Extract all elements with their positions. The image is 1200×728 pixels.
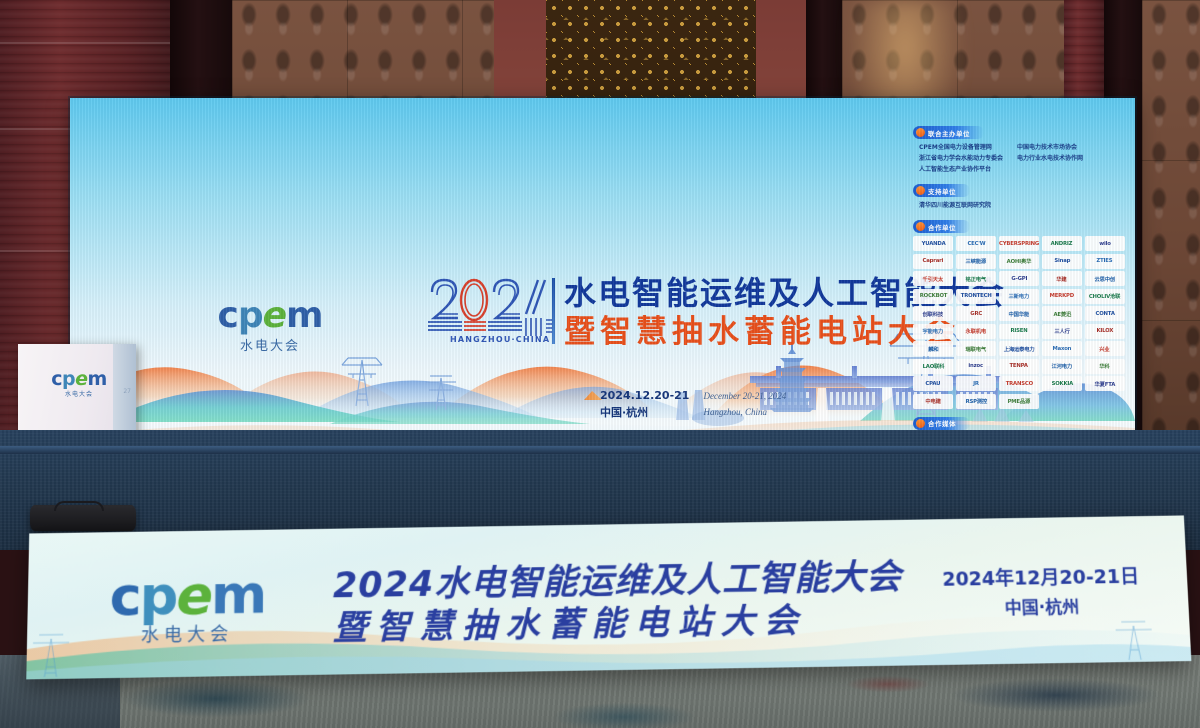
sponsor-logo-label: Caprari: [923, 259, 944, 265]
sponsor-logo-label: TENPA: [1010, 364, 1028, 370]
sponsor-logo-cell: CHOLIV沧联: [1085, 289, 1125, 304]
sponsor-logo-label: 瑞联电气: [966, 345, 986, 353]
organizer-col-1: CPEM全国电力设备管理网 浙江省电力学会水能动力专委会 人工智能生态产业协作平…: [919, 142, 1003, 175]
sponsor-logo-label: G-GPI: [1011, 276, 1027, 282]
sponsor-logo-cell: inzoc: [956, 359, 996, 374]
podium-number: 27: [123, 388, 131, 395]
sponsor-logo-cell: PME品源: [999, 394, 1039, 409]
title-divider: [552, 278, 555, 344]
sponsor-logo-cell: 华建: [1042, 271, 1082, 286]
banner-title-line2: 暨智慧抽水蓄能电站大会: [333, 598, 904, 651]
sponsor-logo-label: AE菱迅: [1053, 310, 1071, 318]
sponsor-logo-label: 千引天太: [923, 275, 943, 283]
sponsor-logo-label: inzoc: [969, 364, 984, 370]
section-header-organizers: 联合主办单位: [913, 126, 984, 139]
sponsor-logo-cell: JR: [956, 376, 996, 391]
sponsor-logo-cell: 华科: [1085, 359, 1125, 374]
sponsor-logo-cell: GRC: [956, 306, 996, 321]
supporter-item: 清华四川能源互联网研究院: [919, 200, 1125, 211]
sponsor-logo-label: 创联科技: [923, 310, 943, 318]
sponsor-logo-label: RSP测控: [965, 398, 986, 406]
organizer-item: 中国电力技术市场协会: [1017, 142, 1083, 153]
sponsor-logo-label: Maxon: [1052, 346, 1071, 352]
sponsor-logo-label: CEC'W: [967, 241, 985, 247]
screen-date-en: December 20-21, 2024: [703, 388, 786, 404]
screen-cpem-logo: cpem 水电大会: [210, 298, 330, 354]
front-stage-banner: cpem 水电大会 2024水电智能运维及人工智能大会 暨智慧抽水蓄能电站大会 …: [26, 515, 1191, 679]
sponsor-logo-cell: SOKKIA: [1042, 376, 1082, 391]
sponsor-logo-label: 华科: [1100, 363, 1110, 371]
section-label-supporters: 支持单位: [928, 186, 956, 196]
sponsor-logo-cell: TRANSCO: [999, 376, 1039, 391]
sponsor-logo-label: CONTA: [1095, 311, 1114, 317]
bullet-icon: [916, 128, 925, 137]
banner-date-line2: 中国·杭州: [943, 592, 1141, 620]
sponsor-logo-label: Sinap: [1054, 259, 1070, 265]
organizer-item: 人工智能生态产业协作平台: [919, 164, 1003, 175]
cpem-wordmark: cpem: [210, 298, 330, 334]
sponsor-logo-cell: G-GPI: [999, 271, 1039, 286]
sponsor-logo-cell: 上海运泰电力: [999, 341, 1039, 356]
sponsor-logo-label: ROCKBOT: [919, 294, 946, 300]
sponsor-logo-cell: AOHI奥华: [999, 254, 1039, 269]
sponsor-logo-cell: 瑞联电气: [956, 341, 996, 356]
organizer-item: CPEM全国电力设备管理网: [919, 142, 1003, 153]
sponsor-logo-cell: 中国华能: [999, 306, 1039, 321]
sponsor-logo-grid: YUANDACEC'WCYBERSPRINGANDRIZwiloCaprari三…: [913, 236, 1125, 409]
sponsor-logo-cell: wilo: [1085, 236, 1125, 251]
sponsor-logo-cell: 中电建: [913, 394, 953, 409]
sponsor-logo-cell: 千引天太: [913, 271, 953, 286]
sponsor-logo-label: 中电建: [925, 398, 940, 406]
sponsor-logo-cell: 麟和: [913, 341, 953, 356]
sponsor-logo-cell: 三峡能源: [956, 254, 996, 269]
year-emblem-2024: HANGZHOU·CHINA: [426, 274, 558, 346]
sponsor-logo-cell: 云思中创: [1085, 271, 1125, 286]
banner-title-block: 2024水电智能运维及人工智能大会 暨智慧抽水蓄能电站大会: [333, 558, 904, 651]
sponsor-logo-label: TRONTECH: [961, 294, 992, 300]
section-header-supporters: 支持单位: [913, 184, 970, 197]
podium-logo: cpem 水电大会: [46, 370, 112, 398]
sponsor-logo-cell: Caprari: [913, 254, 953, 269]
sponsor-logo-label: 云思中创: [1095, 275, 1115, 283]
sponsor-logo-label: 铭正电气: [966, 275, 986, 283]
sponsor-logo-label: TRANSCO: [1005, 381, 1032, 387]
sponsor-logo-cell: CYBERSPRING: [999, 236, 1039, 251]
sponsor-logo-cell: 华夏FTA: [1085, 376, 1125, 391]
sponsor-logo-cell: LAO联科: [913, 359, 953, 374]
podium-subtitle: 水电大会: [46, 389, 112, 398]
sponsor-logo-label: KILOX: [1096, 329, 1113, 335]
section-label-organizers: 联合主办单位: [928, 128, 970, 138]
section-label-media: 合作媒体: [928, 418, 956, 428]
sponsor-logo-cell: 宇能电力: [913, 324, 953, 339]
sponsor-logo-cell: 江河电力: [1042, 359, 1082, 374]
sponsor-logo-cell: CPAU: [913, 376, 953, 391]
sponsor-logo-label: 华夏FTA: [1094, 380, 1115, 388]
banner-date-line1: 2024年12月20-21日: [942, 562, 1140, 592]
sponsor-logo-cell: 兴业: [1085, 341, 1125, 356]
sponsor-logo-label: CHOLIV沧联: [1089, 293, 1120, 301]
sponsor-logo-label: ANDRIZ: [1051, 241, 1073, 247]
sponsor-logo-cell: YUANDA: [913, 236, 953, 251]
banner-date-block: 2024年12月20-21日 中国·杭州: [942, 562, 1141, 620]
organizer-item: 电力行业水电技术协作网: [1017, 153, 1083, 164]
sponsor-logo-cell: 三人行: [1042, 324, 1082, 339]
bullet-icon: [916, 186, 925, 195]
sponsor-logo-cell: 创联科技: [913, 306, 953, 321]
sponsor-logo-label: 中国华能: [1009, 310, 1029, 318]
sponsor-logo-cell: CEC'W: [956, 236, 996, 251]
sponsor-logo-label: 华建: [1057, 275, 1067, 283]
sponsor-logo-label: 上海运泰电力: [1004, 345, 1035, 353]
sponsor-logo-label: 江河电力: [1052, 363, 1072, 371]
section-label-partner-companies: 合作单位: [928, 222, 956, 232]
cpem-subtitle: 水电大会: [210, 335, 330, 354]
screen-place-en: Hangzhou, China: [703, 404, 786, 420]
sponsor-logo-label: MERKPD: [1050, 294, 1074, 300]
sponsor-logo-label: 宇能电力: [923, 328, 943, 336]
sponsor-logo-cell: AE菱迅: [1042, 306, 1082, 321]
conference-room-scene: cpem 水电大会: [0, 0, 1200, 728]
svg-text:HANGZHOU·CHINA: HANGZHOU·CHINA: [450, 335, 550, 344]
screen-date-cn: 2024.12.20-21: [600, 388, 689, 405]
banner-wordmark: cpem: [100, 567, 276, 624]
sponsor-logo-cell: RSP测控: [956, 394, 996, 409]
sponsor-logo-label: CPAU: [926, 381, 941, 387]
supporter-list: 清华四川能源互联网研究院: [913, 200, 1125, 211]
sponsor-logo-label: RISEN: [1010, 329, 1027, 335]
organizer-lists: CPEM全国电力设备管理网 浙江省电力学会水能动力专委会 人工智能生态产业协作平…: [913, 142, 1125, 175]
screen-place-cn: 中国·杭州: [600, 405, 689, 422]
section-header-media: 合作媒体: [913, 417, 970, 430]
section-header-partners-companies: 合作单位: [913, 220, 970, 233]
sponsor-logo-label: 麟和: [928, 345, 938, 353]
sponsor-logo-cell: 铭正电气: [956, 271, 996, 286]
bullet-icon: [916, 419, 925, 428]
sponsor-logo-label: AOHI奥华: [1007, 258, 1032, 266]
sponsor-logo-cell: KILOX: [1085, 324, 1125, 339]
sponsor-logo-label: YUANDA: [921, 241, 945, 247]
sponsor-logo-label: PME品源: [1008, 398, 1031, 406]
screen-date-block: 2024.12.20-21 中国·杭州 December 20-21, 2024…: [600, 388, 786, 421]
sponsor-logo-cell: ROCKBOT: [913, 289, 953, 304]
podium-wordmark: cpem: [46, 370, 112, 389]
sponsor-logo-label: wilo: [1099, 241, 1110, 247]
sponsor-logo-label: 永联机电: [966, 328, 986, 336]
sponsor-logo-label: 兴业: [1100, 345, 1110, 353]
sponsor-logo-cell: CONTA: [1085, 306, 1125, 321]
black-bag-on-floor: [30, 505, 136, 531]
sponsor-logo-cell: Sinap: [1042, 254, 1082, 269]
organizer-col-2: 中国电力技术市场协会 电力行业水电技术协作网: [1017, 142, 1083, 175]
sponsor-logo-cell: RISEN: [999, 324, 1039, 339]
sponsor-logo-label: CYBERSPRING: [999, 241, 1039, 247]
sponsor-logo-label: LAO联科: [922, 363, 944, 371]
sponsor-logo-label: 三新电力: [1009, 293, 1029, 301]
bullet-icon: [916, 222, 925, 231]
sponsor-logo-cell: MERKPD: [1042, 289, 1082, 304]
sponsor-logo-label: SOKKIA: [1051, 381, 1073, 387]
stage-edge-highlight: [0, 446, 1200, 454]
sponsor-logo-label: JR: [973, 381, 979, 387]
sponsor-logo-cell: TRONTECH: [956, 289, 996, 304]
led-backdrop-screen: cpem 水电大会: [70, 98, 1135, 448]
sponsor-logo-cell: ZTIES: [1085, 254, 1125, 269]
organizer-item: 浙江省电力学会水能动力专委会: [919, 153, 1003, 164]
banner-cpem-logo: cpem 水电大会: [99, 567, 275, 648]
sponsor-logo-label: GRC: [970, 311, 982, 317]
sponsor-logo-cell: TENPA: [999, 359, 1039, 374]
sponsor-logo-cell: ANDRIZ: [1042, 236, 1082, 251]
sponsor-logo-cell: 永联机电: [956, 324, 996, 339]
sponsor-logo-label: 三人行: [1054, 328, 1069, 336]
sponsor-panel: 联合主办单位 CPEM全国电力设备管理网 浙江省电力学会水能动力专委会 人工智能…: [913, 124, 1125, 448]
sponsor-logo-cell: 三新电力: [999, 289, 1039, 304]
sponsor-logo-label: 三峡能源: [966, 258, 986, 266]
sponsor-logo-label: ZTIES: [1097, 259, 1113, 265]
sponsor-logo-cell: Maxon: [1042, 341, 1082, 356]
